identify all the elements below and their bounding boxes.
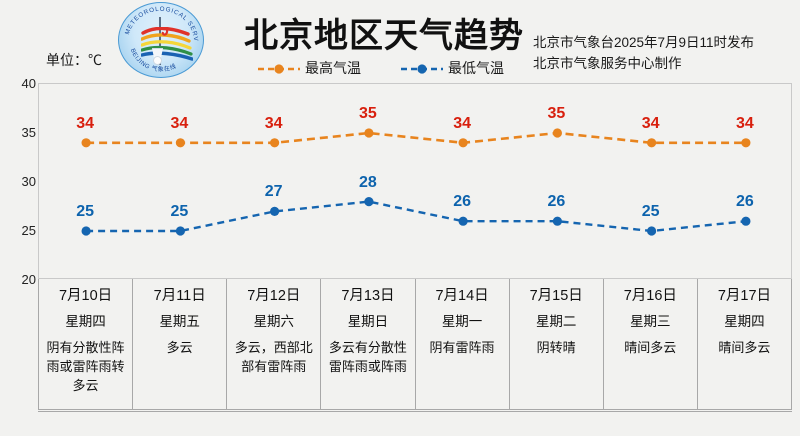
forecast-date: 7月14日 xyxy=(420,286,505,306)
forecast-column[interactable]: 7月13日星期日多云有分散性雷阵雨或阵雨 xyxy=(321,279,415,409)
data-point xyxy=(82,138,91,147)
data-point xyxy=(364,128,373,137)
data-point xyxy=(82,226,91,235)
forecast-table: 7月10日星期四阴有分散性阵雨或雷阵雨转多云7月11日星期五多云7月12日星期六… xyxy=(38,279,792,410)
data-point xyxy=(364,197,373,206)
data-label: 34 xyxy=(442,115,482,133)
forecast-column[interactable]: 7月11日星期五多云 xyxy=(133,279,227,409)
data-point xyxy=(270,207,279,216)
forecast-description: 晴间多云 xyxy=(702,338,787,357)
data-label: 35 xyxy=(348,105,388,123)
data-point xyxy=(176,226,185,235)
forecast-description: 阴转晴 xyxy=(514,338,599,357)
legend-label-low: 最低气温 xyxy=(448,58,504,78)
data-point xyxy=(741,138,750,147)
table-bottom-rule xyxy=(38,411,792,412)
data-label: 34 xyxy=(631,115,671,133)
forecast-date: 7月11日 xyxy=(137,286,222,306)
y-axis-ticks: 2025303540 xyxy=(8,74,36,288)
forecast-description: 阴有雷阵雨 xyxy=(420,338,505,357)
forecast-description: 晴间多云 xyxy=(608,338,693,357)
forecast-column[interactable]: 7月16日星期三晴间多云 xyxy=(604,279,698,409)
forecast-date: 7月10日 xyxy=(43,286,128,306)
legend-item-low: 最低气温 xyxy=(401,58,504,78)
y-axis-tick-35: 35 xyxy=(22,126,36,139)
data-label: 34 xyxy=(725,115,765,133)
legend-symbol-high-icon xyxy=(258,62,300,74)
data-label: 25 xyxy=(159,203,199,221)
forecast-description: 多云有分散性雷阵雨或阵雨 xyxy=(325,338,410,376)
data-point xyxy=(741,217,750,226)
forecast-weekday: 星期四 xyxy=(702,312,787,332)
forecast-weekday: 星期日 xyxy=(325,312,410,332)
forecast-date: 7月13日 xyxy=(325,286,410,306)
publisher-info: 北京市气象台2025年7月9日11时发布 北京市气象服务中心制作 xyxy=(533,32,754,74)
data-label: 26 xyxy=(725,193,765,211)
temperature-trend-lines xyxy=(39,84,793,280)
chart-header: 单位：℃ METEOROLOGICAL SERVICE BEIJING 气象在线 xyxy=(0,0,800,78)
forecast-weekday: 星期一 xyxy=(420,312,505,332)
data-label: 34 xyxy=(159,115,199,133)
logo-rainbow-ribbon xyxy=(141,27,193,61)
logo-shuttlecock-icon xyxy=(150,48,164,65)
forecast-column[interactable]: 7月10日星期四阴有分散性阵雨或雷阵雨转多云 xyxy=(39,279,133,409)
data-point xyxy=(647,226,656,235)
forecast-weekday: 星期六 xyxy=(231,312,316,332)
forecast-column[interactable]: 7月17日星期四晴间多云 xyxy=(698,279,791,409)
forecast-description: 多云 xyxy=(137,338,222,357)
data-point xyxy=(553,217,562,226)
page-title: 北京地区天气趋势 xyxy=(244,8,524,57)
data-point xyxy=(176,138,185,147)
unit-label: 单位：℃ xyxy=(46,50,102,70)
beijing-meteorological-service-logo-icon: METEOROLOGICAL SERVICE BEIJING 气象在线 xyxy=(118,2,204,78)
forecast-weekday: 星期五 xyxy=(137,312,222,332)
data-point xyxy=(459,138,468,147)
forecast-weekday: 星期二 xyxy=(514,312,599,332)
legend-symbol-low-icon xyxy=(401,62,443,74)
legend-item-high: 最高气温 xyxy=(258,58,361,78)
y-axis-tick-20: 20 xyxy=(22,273,36,286)
data-label: 34 xyxy=(254,115,294,133)
data-point xyxy=(459,217,468,226)
y-axis-tick-25: 25 xyxy=(22,224,36,237)
y-axis-tick-40: 40 xyxy=(22,77,36,90)
series-line-high xyxy=(86,133,746,143)
forecast-date: 7月12日 xyxy=(231,286,316,306)
forecast-weekday: 星期三 xyxy=(608,312,693,332)
publisher-line-2: 北京市气象服务中心制作 xyxy=(533,53,754,74)
y-axis-tick-30: 30 xyxy=(22,175,36,188)
data-point xyxy=(270,138,279,147)
publisher-line-1: 北京市气象台2025年7月9日11时发布 xyxy=(533,32,754,53)
forecast-date: 7月15日 xyxy=(514,286,599,306)
data-label: 35 xyxy=(536,105,576,123)
forecast-column[interactable]: 7月14日星期一阴有雷阵雨 xyxy=(416,279,510,409)
data-label: 26 xyxy=(536,193,576,211)
forecast-weekday: 星期四 xyxy=(43,312,128,332)
forecast-column[interactable]: 7月12日星期六多云，西部北部有雷阵雨 xyxy=(227,279,321,409)
chart-plot-area xyxy=(38,83,792,279)
data-label: 25 xyxy=(65,203,105,221)
data-label: 26 xyxy=(442,193,482,211)
data-label: 25 xyxy=(631,203,671,221)
data-label: 28 xyxy=(348,174,388,192)
chart-legend: 最高气温 最低气温 xyxy=(258,58,504,78)
data-label: 27 xyxy=(254,183,294,201)
data-point xyxy=(553,128,562,137)
forecast-description: 阴有分散性阵雨或雷阵雨转多云 xyxy=(43,338,128,395)
forecast-column[interactable]: 7月15日星期二阴转晴 xyxy=(510,279,604,409)
data-point xyxy=(647,138,656,147)
forecast-date: 7月16日 xyxy=(608,286,693,306)
forecast-date: 7月17日 xyxy=(702,286,787,306)
data-label: 34 xyxy=(65,115,105,133)
forecast-description: 多云，西部北部有雷阵雨 xyxy=(231,338,316,376)
legend-label-high: 最高气温 xyxy=(305,58,361,78)
